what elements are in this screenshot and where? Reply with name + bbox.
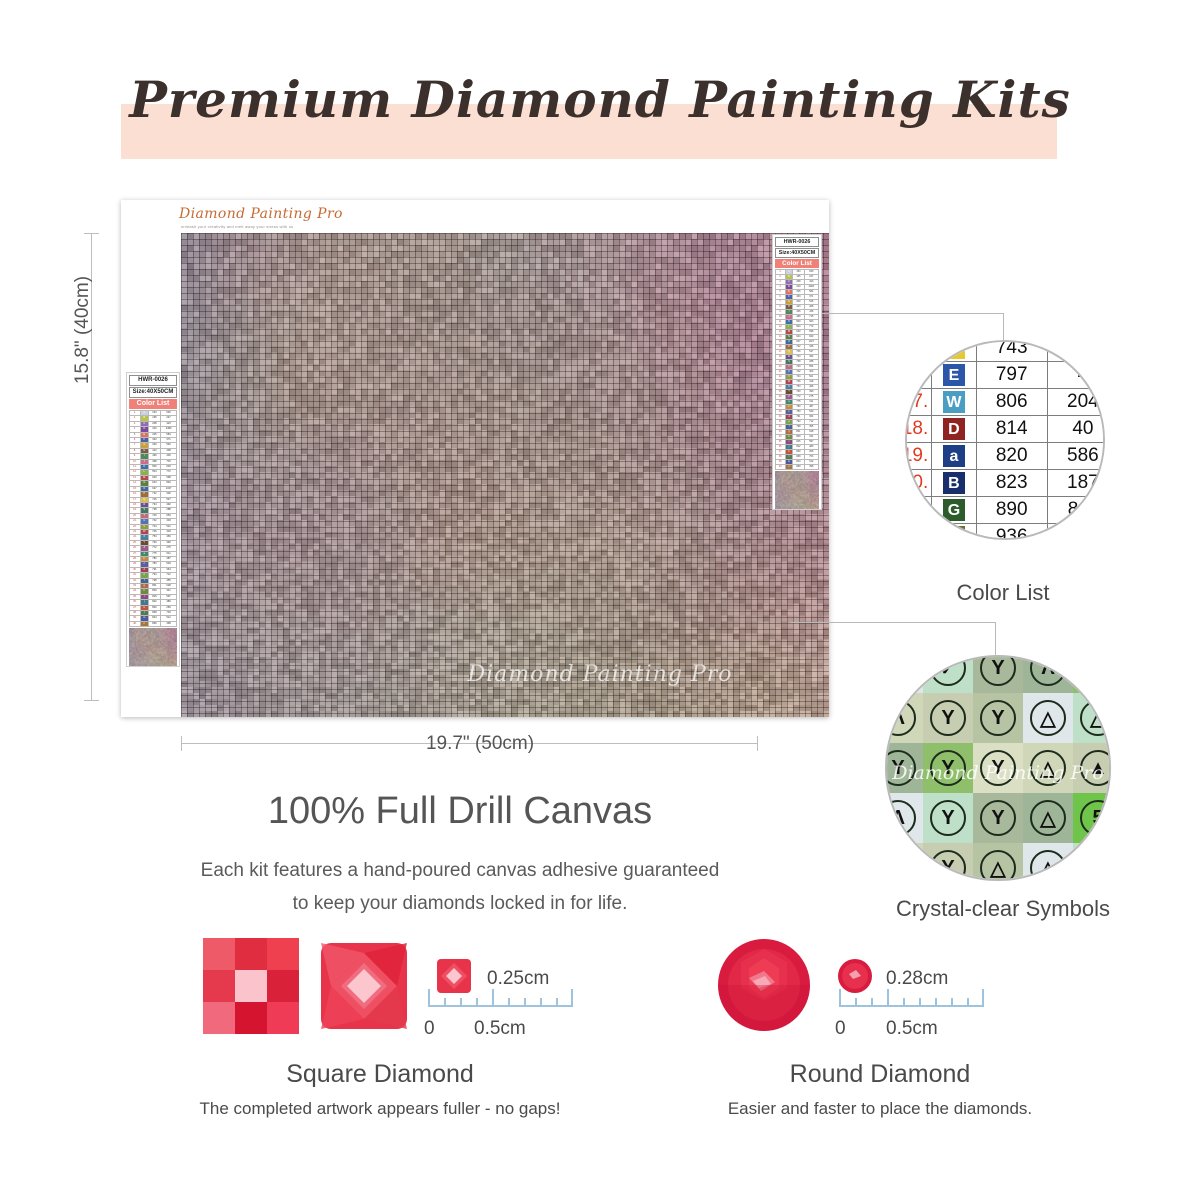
- color-list-row: 23.W746318: [776, 380, 819, 385]
- zoomed-color-list-row: E7974: [905, 362, 1105, 389]
- zoomed-color-list-table: O743E79747.W80620418.D8144019.a82058620.…: [905, 340, 1105, 540]
- color-row-symbol: n: [785, 465, 792, 470]
- color-list-row: 12.L504772: [776, 325, 819, 330]
- color-list-row: 16.P722336: [776, 345, 819, 350]
- zoom-row-dmc: 743: [976, 340, 1047, 362]
- dimension-cap-top: [84, 233, 99, 234]
- color-list-row: 35.i815597: [130, 594, 177, 599]
- symbol-glyph-5: 5: [1080, 800, 1111, 836]
- callout-symbols-zoom: ✓✓YΛΛΛYY△△YYY△▲ΛYY△5ΛY△△△ Diamond Painti…: [885, 655, 1111, 881]
- symbol-glyph-3: △: [1080, 700, 1111, 736]
- zoom-row-index: 1.: [905, 497, 932, 524]
- color-list-row: 22.V744521: [130, 524, 177, 529]
- brand-tagline: unleash your creativity and melt away yo…: [181, 224, 293, 229]
- symbol-glyph-0: ✓: [885, 655, 916, 686]
- color-list-row: 17.Q726547: [776, 350, 819, 355]
- color-row-symbol: n: [140, 621, 148, 626]
- color-list-header: Color List: [775, 259, 819, 268]
- color-list-row: 19.S738288: [776, 360, 819, 365]
- symbol-glyph-1: Y: [930, 850, 966, 881]
- symbol-cell: Λ: [885, 693, 923, 743]
- zoom-row-dmc: 806: [976, 389, 1047, 416]
- zoom-row-dmc: 823: [976, 470, 1047, 497]
- zoomed-color-list-row: 19.a820586: [905, 443, 1105, 470]
- color-list-row: 33.g801628: [776, 430, 819, 435]
- round-diamond-large: [717, 938, 811, 1032]
- zoom-row-count: [1047, 340, 1105, 362]
- symbol-glyph-3: △: [980, 850, 1016, 881]
- section-subtitle-line2: to keep your diamonds locked in for life…: [120, 893, 800, 915]
- kit-code-label: HWR-0026: [129, 375, 177, 386]
- symbol-cell: Y: [923, 693, 973, 743]
- symbol-glyph-2: Λ: [885, 700, 916, 736]
- color-list-row: 39.m844512: [130, 616, 177, 621]
- color-list-panel-left: HWR-0026 Size:40X50CM Color List 1.A1546…: [126, 372, 180, 667]
- symbol-cell: Y: [923, 793, 973, 843]
- symbol-glyph-1: Y: [980, 800, 1016, 836]
- symbol-glyph-1: Y: [930, 700, 966, 736]
- symbol-cell: Y: [923, 743, 973, 793]
- zoom-row-symbol: E: [932, 362, 976, 389]
- zoom-row-count: 586: [1047, 443, 1105, 470]
- symbol-glyph-2: Λ: [1080, 655, 1111, 686]
- color-row-count: 398: [804, 465, 818, 470]
- color-list-row: 24.X754466: [130, 535, 177, 540]
- color-list-row: 21.U742403: [776, 370, 819, 375]
- color-list-row: 38.l838703: [776, 455, 819, 460]
- zoom-row-index: 18.: [905, 416, 932, 443]
- symbol-cell: Λ: [1073, 655, 1111, 693]
- round-ruler-label-zero: 0: [835, 1018, 846, 1040]
- symbol-glyph-1: Y: [980, 750, 1016, 786]
- leader-line-symbols-v: [995, 622, 996, 658]
- symbol-cell: ✓: [923, 655, 973, 693]
- zoomed-color-list-row: O743: [905, 340, 1105, 362]
- color-list-row: 32.f798455: [130, 578, 177, 583]
- product-canvas-card: Diamond Painting Pro unleash your creati…: [121, 200, 829, 717]
- color-list-row: 35.i815597: [776, 440, 819, 445]
- symbol-cell: 5: [1073, 793, 1111, 843]
- color-list-row: 24.X754466: [776, 385, 819, 390]
- zoom-row-dmc: 814: [976, 416, 1047, 443]
- color-list-row: 25.Y760390: [776, 390, 819, 395]
- color-list-row: 14.N644840: [776, 335, 819, 340]
- zoom-row-count: 204: [1047, 389, 1105, 416]
- zoomed-color-list-row: 18.D81440: [905, 416, 1105, 443]
- color-list-row: 30.d791364: [776, 415, 819, 420]
- color-list-row: 32.f798455: [776, 425, 819, 430]
- zoom-row-symbol: C: [932, 524, 976, 541]
- color-list-row: 10.J468715: [776, 315, 819, 320]
- round-diamond-ruler: [839, 985, 984, 1015]
- color-row-index: 40.: [130, 621, 141, 626]
- color-list-thumbnail: [775, 471, 819, 509]
- color-list-row: 27.a775611: [130, 551, 177, 556]
- color-list-row: 27.a775611: [776, 400, 819, 405]
- symbol-glyph-1: Y: [980, 700, 1016, 736]
- color-list-table: 1.A1546302.B1652473.C2084234.D31024835.E…: [775, 269, 819, 470]
- square-ruler-label-zero: 0: [424, 1018, 435, 1040]
- symbol-glyph-1: Y: [885, 750, 916, 786]
- symbol-cell: ✓: [885, 655, 923, 693]
- color-list-row: 40.n869398: [776, 465, 819, 470]
- color-list-table: 1.A1546302.B1652473.C2084234.D31024835.E…: [129, 410, 177, 627]
- symbol-cell: Y: [973, 693, 1023, 743]
- color-list-row: 20.T740654: [130, 513, 177, 518]
- color-list-row: 29.c783529: [130, 562, 177, 567]
- symbol-glyph-3: △: [1030, 850, 1066, 881]
- symbol-cell: △: [1073, 843, 1111, 881]
- dimension-label-width: 19.7" (50cm): [330, 733, 630, 755]
- color-list-row: 34.h809341: [130, 589, 177, 594]
- callout-label-symbols: Crystal-clear Symbols: [845, 896, 1161, 922]
- color-list-row: 18.R734492: [130, 502, 177, 507]
- symbol-cell: Y: [923, 843, 973, 881]
- color-list-row: 15.O6471327: [130, 486, 177, 491]
- color-list-row: 15.O6471327: [776, 340, 819, 345]
- symbol-cell: Y: [973, 655, 1023, 693]
- diamond-painting-mosaic: [181, 233, 829, 717]
- square-diamond-title: Square Diamond: [130, 1060, 630, 1089]
- color-list-row: 37.k830266: [130, 605, 177, 610]
- color-row-dmc: 869: [793, 465, 804, 470]
- color-list-row: 13.M640698: [776, 330, 819, 335]
- zoom-row-index: 20.: [905, 470, 932, 497]
- color-list-row: 39.m844512: [776, 460, 819, 465]
- symbol-cell: △: [1023, 793, 1073, 843]
- symbol-cell: ▲: [1073, 743, 1111, 793]
- callout-color-list-zoom: O743E79747.W80620418.D8144019.a82058620.…: [905, 340, 1105, 540]
- symbol-glyph-2: Λ: [885, 800, 916, 836]
- color-list-row: 11.K500603: [776, 320, 819, 325]
- symbol-cell: Y: [885, 743, 923, 793]
- round-diamond-description: Easier and faster to place the diamonds.: [600, 1099, 1160, 1119]
- square-diamond-medium: [319, 941, 409, 1031]
- color-list-row: 21.U742403: [130, 519, 177, 524]
- symbol-cell: △: [973, 843, 1023, 881]
- zoom-row-index: [905, 340, 932, 362]
- symbol-glyph-0: ✓: [930, 655, 966, 686]
- zoom-row-dmc: 890: [976, 497, 1047, 524]
- symbol-cell: △: [1073, 693, 1111, 743]
- leader-line-symbols-h: [790, 622, 996, 623]
- zoom-row-count: 4: [1047, 362, 1105, 389]
- zoom-row-symbol: O: [932, 340, 976, 362]
- color-row-index: 40.: [776, 465, 786, 470]
- square-diamond-large: [201, 936, 301, 1036]
- color-list-row: 29.c783529: [776, 410, 819, 415]
- zoom-row-index: [905, 524, 932, 541]
- callout-label-color-list: Color List: [880, 580, 1126, 606]
- section-title: 100% Full Drill Canvas: [120, 790, 800, 833]
- dimension-cap-right: [757, 736, 758, 751]
- square-ruler-label-half: 0.5cm: [474, 1018, 526, 1040]
- round-diamond-title: Round Diamond: [620, 1060, 1140, 1089]
- color-list-row: 16.P722336: [130, 492, 177, 497]
- square-diamond-ruler: [428, 985, 573, 1015]
- round-ruler-label-half: 0.5cm: [886, 1018, 938, 1040]
- color-list-row: 26.Z772275: [130, 546, 177, 551]
- symbol-glyph-1: Y: [930, 800, 966, 836]
- symbol-glyph-3: △: [1080, 850, 1111, 881]
- color-list-row: 25.Y760390: [130, 540, 177, 545]
- zoom-row-count: 811: [1047, 497, 1105, 524]
- kit-code-label: HWR-0026: [775, 237, 819, 247]
- symbol-glyph-2: Λ: [885, 850, 916, 881]
- zoom-row-dmc: 936: [976, 524, 1047, 541]
- square-diamond-description: The completed artwork appears fuller - n…: [110, 1099, 650, 1119]
- symbol-cell: Λ: [1023, 655, 1073, 693]
- leader-line-colorlist-h: [822, 313, 1004, 314]
- zoom-row-symbol: G: [932, 497, 976, 524]
- zoom-row-count: 40: [1047, 416, 1105, 443]
- color-list-row: 36.j822480: [130, 600, 177, 605]
- zoomed-color-list-row: 1.G890811: [905, 497, 1105, 524]
- mosaic-artwork: [181, 233, 829, 717]
- page-title: Premium Diamond Painting Kits: [0, 70, 1200, 129]
- zoomed-color-list-row: C9369: [905, 524, 1105, 541]
- zoom-row-dmc: 820: [976, 443, 1047, 470]
- zoom-row-symbol: D: [932, 416, 976, 443]
- zoomed-color-list-row: 20.B823187: [905, 470, 1105, 497]
- color-row-count: 398: [161, 621, 177, 626]
- color-list-row: 28.b780487: [776, 405, 819, 410]
- zoom-row-dmc: 797: [976, 362, 1047, 389]
- color-list-row: 31.e794712: [130, 573, 177, 578]
- dimension-label-height: 15.8" (40cm): [72, 270, 94, 390]
- zoom-row-symbol: W: [932, 389, 976, 416]
- zoom-row-symbol: a: [932, 443, 976, 470]
- color-list-header: Color List: [129, 399, 177, 409]
- color-list-panel-right: HWR-0026 Size:40X50CM Color List 1.A1546…: [772, 234, 822, 510]
- symbol-glyph-1: Y: [930, 750, 966, 786]
- dimension-cap-bottom: [84, 700, 99, 701]
- color-list-row: 37.k830266: [776, 450, 819, 455]
- symbol-cell: Y: [973, 793, 1023, 843]
- color-row-dmc: 869: [148, 621, 160, 626]
- symbol-glyph-3: △: [1030, 750, 1066, 786]
- kit-size-label: Size:40X50CM: [129, 387, 177, 398]
- symbol-cell: Λ: [885, 843, 923, 881]
- color-list-row: 13.M640698: [130, 475, 177, 480]
- leader-line-colorlist-v: [1003, 313, 1004, 343]
- brand-logo: Diamond Painting Pro: [179, 206, 343, 222]
- color-list-row: 14.N644840: [130, 481, 177, 486]
- zoom-row-symbol: B: [932, 470, 976, 497]
- symbol-cell: △: [1023, 843, 1073, 881]
- symbol-cell: △: [1023, 693, 1073, 743]
- symbol-glyph-3: △: [1030, 700, 1066, 736]
- color-list-row: 31.e794712: [776, 420, 819, 425]
- color-list-row: 18.R734492: [776, 355, 819, 360]
- symbol-cell: Λ: [885, 793, 923, 843]
- color-list-row: 30.d791364: [130, 567, 177, 572]
- symbol-glyph-4: ▲: [1080, 750, 1111, 786]
- color-list-row: 12.L504772: [130, 470, 177, 475]
- symbol-glyph-2: Λ: [1030, 655, 1066, 686]
- color-list-row: 17.Q726547: [130, 497, 177, 502]
- color-list-row: 10.J468715: [130, 459, 177, 464]
- symbol-cell: Y: [973, 743, 1023, 793]
- zoom-row-index: 7.: [905, 389, 932, 416]
- color-list-row: 40.n869398: [130, 621, 177, 626]
- zoom-row-index: 19.: [905, 443, 932, 470]
- color-list-row: 20.T740654: [776, 365, 819, 370]
- color-list-thumbnail: [129, 628, 177, 666]
- symbol-cell: △: [1023, 743, 1073, 793]
- color-list-row: 19.S738288: [130, 508, 177, 513]
- zoom-row-count: 187: [1047, 470, 1105, 497]
- color-list-row: 36.j822480: [776, 445, 819, 450]
- symbol-glyph-3: △: [1030, 800, 1066, 836]
- color-list-row: 26.Z772275: [776, 395, 819, 400]
- dimension-cap-left: [181, 736, 182, 751]
- zoom-row-count: 9: [1047, 524, 1105, 541]
- zoom-row-index: [905, 362, 932, 389]
- zoomed-color-list-row: 7.W806204: [905, 389, 1105, 416]
- color-list-row: 22.V744521: [776, 375, 819, 380]
- symbol-glyph-1: Y: [980, 655, 1016, 686]
- kit-size-label: Size:40X50CM: [775, 248, 819, 258]
- section-subtitle-line1: Each kit features a hand-poured canvas a…: [120, 860, 800, 882]
- color-list-row: 34.h809341: [776, 435, 819, 440]
